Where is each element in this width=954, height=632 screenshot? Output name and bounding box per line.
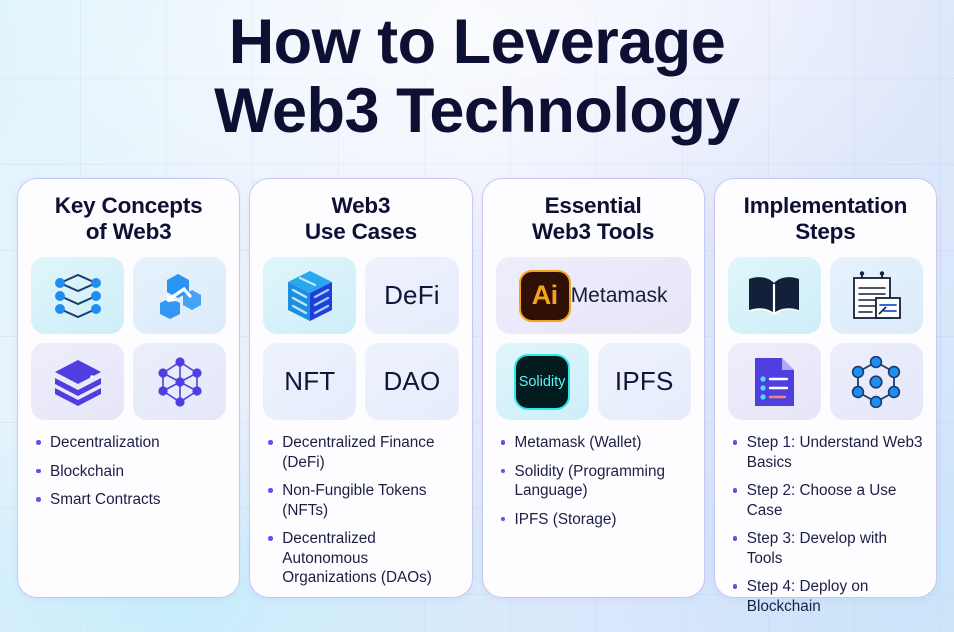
- card-title: Web3 Use Cases: [263, 193, 458, 247]
- list-item: IPFS (Storage): [498, 510, 691, 530]
- card-implementation-steps: Implementation Steps: [714, 178, 937, 598]
- solidity-badge-icon: Solidity: [514, 354, 570, 410]
- adobe-illustrator-badge-icon: Ai: [519, 270, 571, 322]
- tile-label: IPFS: [615, 366, 674, 397]
- card-title: Implementation Steps: [728, 193, 923, 247]
- list-item: Decentralization: [33, 433, 226, 453]
- checklist-document-icon: [749, 355, 799, 409]
- list-item: Step 2: Choose a Use Case: [730, 481, 923, 520]
- card-title-line-2: of Web3: [86, 219, 172, 244]
- card-title-line-1: Implementation: [744, 193, 907, 218]
- list-item: Step 1: Understand Web3 Basics: [730, 433, 923, 472]
- tile-defi[interactable]: DeFi: [365, 257, 458, 334]
- cards-row: Key Concepts of Web3: [17, 178, 937, 598]
- card-key-concepts: Key Concepts of Web3: [17, 178, 240, 598]
- list-item: Decentralized Finance (DeFi): [265, 433, 458, 472]
- tile-nft[interactable]: NFT: [263, 343, 356, 420]
- tile-notepad-document[interactable]: [830, 257, 923, 334]
- tile-hexagon-network[interactable]: [133, 257, 226, 334]
- list-item: Non-Fungible Tokens (NFTs): [265, 481, 458, 520]
- icon-tiles: [728, 257, 923, 420]
- tile-label: Metamask: [571, 284, 668, 308]
- tile-label: DeFi: [384, 280, 440, 311]
- tile-hexagon-nodes[interactable]: [830, 343, 923, 420]
- card-title: Essential Web3 Tools: [496, 193, 691, 247]
- tile-mesh-network[interactable]: [133, 343, 226, 420]
- tile-stacked-layers[interactable]: [31, 343, 124, 420]
- list-item: Smart Contracts: [33, 490, 226, 510]
- card-title: Key Concepts of Web3: [31, 193, 226, 247]
- card-essential-tools: Essential Web3 Tools Ai Metamask Solidit…: [482, 178, 705, 598]
- bullet-list: Decentralized Finance (DeFi) Non-Fungibl…: [263, 433, 458, 597]
- card-title-line-1: Web3: [331, 193, 390, 218]
- list-item: Metamask (Wallet): [498, 433, 691, 453]
- tile-dao[interactable]: DAO: [365, 343, 458, 420]
- 3d-blocks-icon: [285, 268, 335, 324]
- tile-label: NFT: [284, 366, 335, 397]
- icon-tiles: DeFi NFT DAO: [263, 257, 458, 420]
- card-title-line-1: Key Concepts: [55, 193, 203, 218]
- stacked-layers-icon: [51, 357, 105, 407]
- page-title-line-2: Web3 Technology: [0, 77, 954, 146]
- tile-blockchain-nodes[interactable]: [31, 257, 124, 334]
- card-title-line-2: Web3 Tools: [532, 219, 654, 244]
- tile-solidity[interactable]: Solidity: [496, 343, 589, 420]
- bullet-list: Metamask (Wallet) Solidity (Programming …: [496, 433, 691, 538]
- open-book-icon: [745, 273, 803, 319]
- icon-tiles-row-2: Solidity IPFS: [496, 343, 691, 420]
- tile-open-book[interactable]: [728, 257, 821, 334]
- hexagon-nodes-icon: [849, 356, 903, 408]
- list-item: Blockchain: [33, 462, 226, 482]
- tile-3d-blocks[interactable]: [263, 257, 356, 334]
- card-use-cases: Web3 Use Cases: [249, 178, 472, 598]
- card-title-line-2: Use Cases: [305, 219, 417, 244]
- blockchain-nodes-icon: [51, 271, 105, 321]
- card-title-line-2: Steps: [795, 219, 855, 244]
- list-item: Solidity (Programming Language): [498, 462, 691, 501]
- card-title-line-1: Essential: [545, 193, 642, 218]
- tile-ipfs[interactable]: IPFS: [598, 343, 691, 420]
- tile-metamask[interactable]: Ai Metamask: [496, 257, 691, 334]
- bullet-list: Decentralization Blockchain Smart Contra…: [31, 433, 226, 519]
- list-item: Step 3: Develop with Tools: [730, 529, 923, 568]
- icon-tiles: [31, 257, 226, 420]
- hexagon-network-icon: [154, 270, 206, 322]
- mesh-network-icon: [154, 356, 206, 408]
- infographic-canvas: How to Leverage Web3 Technology Key Conc…: [0, 0, 954, 632]
- page-title-line-1: How to Leverage: [0, 8, 954, 77]
- tile-label: DAO: [383, 366, 440, 397]
- notepad-document-icon: [848, 270, 904, 322]
- list-item: Step 4: Deploy on Blockchain: [730, 577, 923, 616]
- tile-checklist-document[interactable]: [728, 343, 821, 420]
- bullet-list: Step 1: Understand Web3 Basics Step 2: C…: [728, 433, 923, 626]
- list-item: Decentralized Autonomous Organizations (…: [265, 529, 458, 588]
- page-title: How to Leverage Web3 Technology: [0, 8, 954, 147]
- icon-tiles: Ai Metamask: [496, 257, 691, 334]
